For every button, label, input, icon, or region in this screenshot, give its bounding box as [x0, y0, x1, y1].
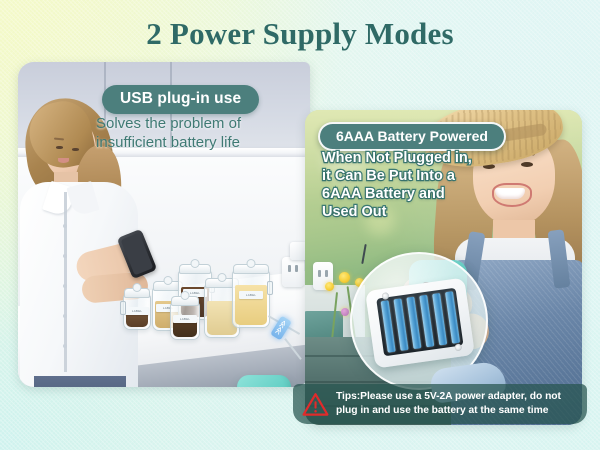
- shirt-button: [63, 254, 67, 258]
- jar-knob: [191, 259, 200, 268]
- aaa-battery: [445, 291, 460, 344]
- tips-text: Tips:Please use a 5V-2A power adapter, d…: [336, 390, 561, 417]
- storage-jar: LABEL: [170, 302, 200, 340]
- jar-label: LABEL: [125, 307, 149, 315]
- yellow-flower: [339, 272, 350, 283]
- usb-mode-badge: USB plug-in use: [102, 85, 259, 114]
- mouth: [58, 158, 69, 163]
- outlet-slot: [295, 265, 298, 272]
- storage-jar: LABEL: [232, 270, 270, 328]
- wall-outlet: [282, 257, 304, 287]
- shirt-button: [63, 344, 67, 348]
- shirt-button: [63, 284, 67, 288]
- jar-label: LABEL: [173, 315, 197, 323]
- aaa-battery: [419, 295, 434, 348]
- aaa-battery: [406, 297, 421, 350]
- eye: [56, 146, 63, 149]
- aaa-battery: [432, 293, 447, 346]
- usb-mode-subtitle: Solves the problem of insufficient batte…: [96, 115, 306, 153]
- warning-triangle-icon: [302, 392, 329, 417]
- aaa-battery: [381, 300, 396, 353]
- page-title: 2 Power Supply Modes: [0, 16, 600, 52]
- jar-knob: [218, 273, 227, 282]
- aaa-battery: [393, 298, 408, 351]
- device-open-top: [365, 277, 475, 368]
- outlet-slot: [318, 270, 321, 277]
- tips-bar: Tips:Please use a 5V-2A power adapter, d…: [293, 384, 587, 424]
- shirt-button: [63, 314, 67, 318]
- battery-mode-heading: When Not Plugged in, it Can Be Put Into …: [322, 150, 512, 222]
- jar-knob: [247, 259, 256, 268]
- battery-well: [376, 288, 463, 357]
- jar-clip: [120, 301, 126, 315]
- infographic-root: 2 Power Supply Modes: [0, 0, 600, 450]
- jar-label: LABEL: [239, 291, 263, 299]
- jeans: [34, 376, 126, 387]
- shirt-button: [63, 224, 67, 228]
- eye: [72, 148, 79, 151]
- storage-jar: LABEL: [123, 294, 151, 330]
- eye: [521, 162, 533, 167]
- device-screw: [454, 343, 462, 351]
- jar-knob: [164, 276, 173, 285]
- outlet-slot: [325, 270, 328, 277]
- jar-clip: [267, 281, 273, 295]
- jar-knob: [181, 291, 190, 300]
- jar-knob: [133, 283, 142, 292]
- pink-flower: [341, 308, 349, 316]
- battery-mode-badge: 6AAA Battery Powered: [318, 122, 506, 151]
- outlet-slot: [288, 265, 291, 272]
- yellow-flower: [325, 282, 334, 291]
- label-printer-device: [237, 375, 291, 387]
